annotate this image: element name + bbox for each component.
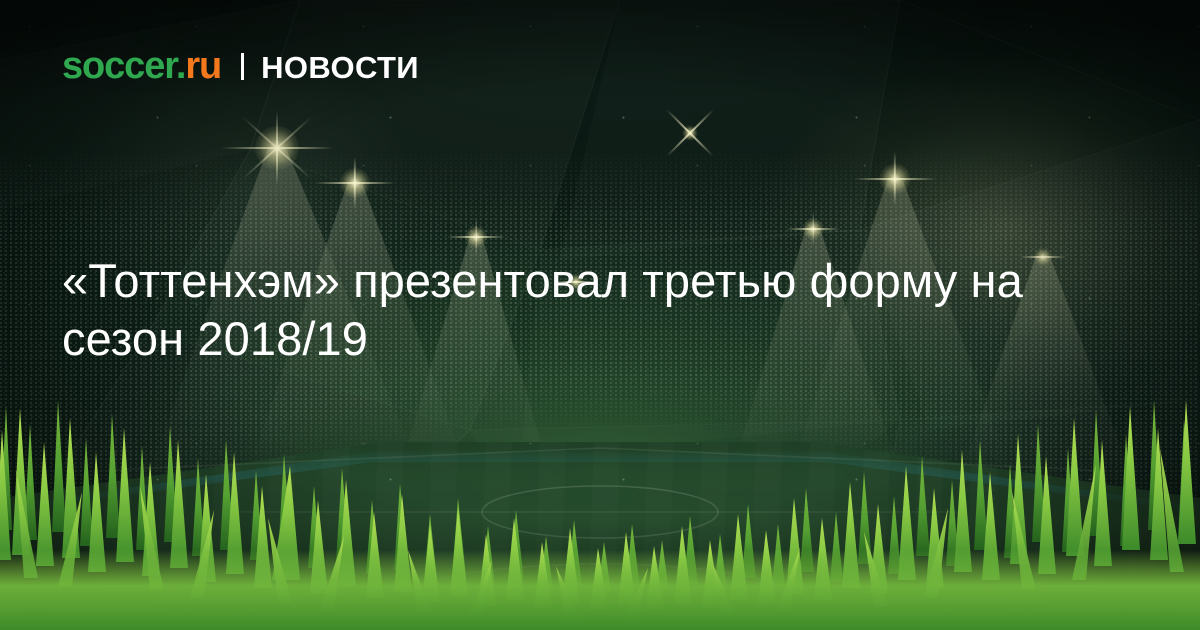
article-headline: «Тоттенхэм» презентовал третью форму на … (62, 252, 1072, 368)
card-content: soccer.ru НОВОСТИ «Тоттенхэм» презентова… (0, 0, 1200, 630)
brand-separator-bar (241, 53, 244, 80)
news-share-card: soccer.ru НОВОСТИ «Тоттенхэм» презентова… (0, 0, 1200, 630)
logo-text-dot: . (176, 45, 185, 87)
site-logo[interactable]: soccer.ru (62, 47, 221, 85)
section-label-novosti[interactable]: НОВОСТИ (261, 52, 419, 83)
logo-text-ru: ru (185, 45, 221, 87)
logo-text-soccer: soccer (62, 45, 176, 87)
brand-bar[interactable]: soccer.ru НОВОСТИ (62, 47, 419, 85)
